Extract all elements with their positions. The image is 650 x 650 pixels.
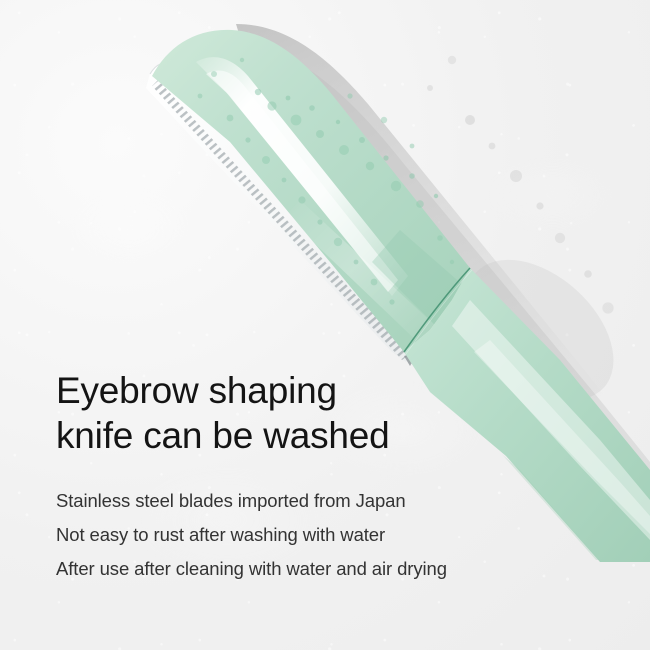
feature-list: Stainless steel blades imported from Jap… [56, 484, 616, 586]
feature-item: Stainless steel blades imported from Jap… [56, 484, 616, 518]
feature-item: After use after cleaning with water and … [56, 552, 616, 586]
copy-block: Eyebrow shaping knife can be washed Stai… [56, 368, 616, 586]
feature-item: Not easy to rust after washing with wate… [56, 518, 616, 552]
product-banner: Eyebrow shaping knife can be washed Stai… [0, 0, 650, 650]
headline: Eyebrow shaping knife can be washed [56, 368, 616, 458]
